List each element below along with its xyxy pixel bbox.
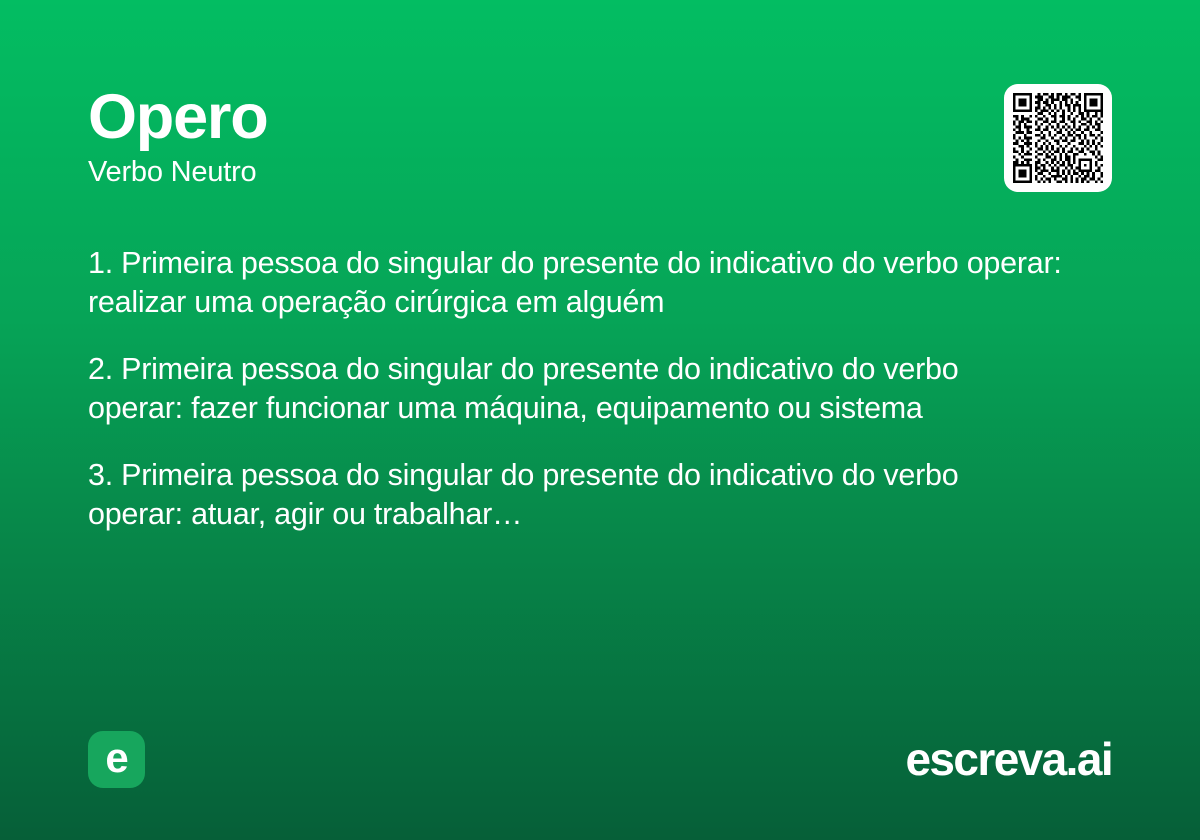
qr-code-icon [1013, 93, 1103, 183]
card-header: Opero Verbo Neutro [88, 84, 1112, 192]
definition-item: 1. Primeira pessoa do singular do presen… [88, 244, 1112, 322]
definition-list: 1. Primeira pessoa do singular do presen… [88, 244, 1112, 534]
brand-logo-letter: e [105, 737, 127, 779]
qr-code-panel[interactable] [1004, 84, 1112, 192]
word-class-label: Verbo Neutro [88, 157, 268, 189]
card-footer: e escreva.ai [88, 730, 1112, 788]
brand-wordmark: escreva.ai [905, 736, 1112, 782]
brand-logo: e [88, 731, 145, 788]
page-title: Opero [88, 86, 268, 149]
word-definition-card: Opero Verbo Neutro [0, 0, 1200, 840]
headings-group: Opero Verbo Neutro [88, 84, 268, 189]
definition-item: 2. Primeira pessoa do singular do presen… [88, 350, 1053, 428]
definition-item: 3. Primeira pessoa do singular do presen… [88, 456, 1028, 534]
